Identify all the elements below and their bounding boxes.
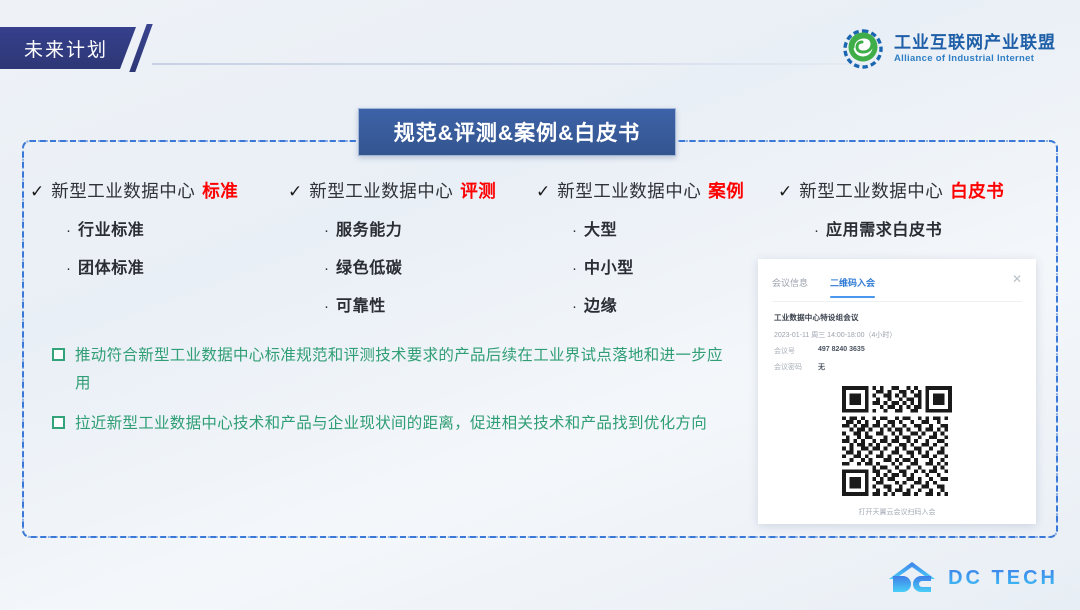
list-item: · 团体标准 bbox=[66, 254, 288, 278]
dc-monogram-icon bbox=[885, 560, 939, 596]
check-icon: ✓ bbox=[288, 183, 302, 200]
meeting-qr-card: 会议信息 二维码入会 ✕ 工业数据中心特设组会议 2023-01-11 周三 1… bbox=[758, 259, 1036, 524]
bullet-dot-icon: · bbox=[66, 261, 71, 276]
meeting-title: 工业数据中心特设组会议 bbox=[774, 312, 1020, 323]
list-item: · 大型 bbox=[572, 216, 778, 240]
category-column-evaluation: ✓ 新型工业数据中心 评测 · 服务能力 · 绿色低碳 · 可靠性 bbox=[288, 178, 536, 330]
column-sub-list: · 服务能力 · 绿色低碳 · 可靠性 bbox=[288, 216, 536, 316]
note-text: 拉近新型工业数据中心技术和产品与企业现状间的距离，促进相关技术和产品找到优化方向 bbox=[75, 410, 707, 438]
meeting-id-label: 会议号 bbox=[774, 346, 818, 356]
check-icon: ✓ bbox=[536, 183, 550, 200]
list-item: · 应用需求白皮书 bbox=[814, 216, 1050, 240]
bullet-dot-icon: · bbox=[572, 299, 577, 314]
column-heading-accent: 白皮书 bbox=[950, 178, 1004, 203]
meeting-id-row: 会议号 497 8240 3635 bbox=[774, 346, 1020, 356]
card-tab-bar: 会议信息 二维码入会 ✕ bbox=[758, 259, 1036, 301]
column-heading-accent: 评测 bbox=[460, 178, 496, 203]
list-item-label: 大型 bbox=[584, 216, 617, 240]
column-heading: ✓ 新型工业数据中心 案例 bbox=[536, 178, 778, 203]
tab-meeting-info[interactable]: 会议信息 bbox=[772, 276, 808, 298]
bullet-dot-icon: · bbox=[572, 223, 577, 238]
alliance-logo-text: 工业互联网产业联盟 Alliance of Industrial Interne… bbox=[894, 34, 1056, 64]
note-text: 推动符合新型工业数据中心标准规范和评测技术要求的产品后续在工业界试点落地和进一步… bbox=[75, 342, 724, 398]
list-item: · 绿色低碳 bbox=[324, 254, 536, 278]
slide-title-banner: 未来计划 bbox=[0, 27, 136, 69]
section-title-text: 规范&评测&案例&白皮书 bbox=[394, 117, 641, 147]
column-heading-accent: 案例 bbox=[708, 178, 744, 203]
list-item-label: 可靠性 bbox=[336, 292, 386, 316]
column-heading-main: 新型工业数据中心 bbox=[309, 178, 453, 203]
category-column-standard: ✓ 新型工业数据中心 标准 · 行业标准 · 团体标准 bbox=[30, 178, 288, 330]
dc-tech-wordmark: DC TECH bbox=[948, 567, 1058, 590]
close-icon[interactable]: ✕ bbox=[1012, 273, 1022, 285]
column-sub-list: · 行业标准 · 团体标准 bbox=[30, 216, 288, 278]
bullet-dot-icon: · bbox=[66, 223, 71, 238]
meeting-time: 2023-01-11 周三 14:00-18:00（4小时） bbox=[774, 330, 1020, 340]
bullet-dot-icon: · bbox=[324, 261, 329, 276]
list-item: · 边缘 bbox=[572, 292, 778, 316]
square-bullet-icon bbox=[52, 416, 65, 429]
column-sub-list: · 大型 · 中小型 · 边缘 bbox=[536, 216, 778, 316]
list-item: · 服务能力 bbox=[324, 216, 536, 240]
category-column-case: ✓ 新型工业数据中心 案例 · 大型 · 中小型 · 边缘 bbox=[536, 178, 778, 330]
check-icon: ✓ bbox=[778, 183, 792, 200]
qr-caption: 打开天翼云会议扫码入会 bbox=[859, 507, 936, 517]
column-heading-main: 新型工业数据中心 bbox=[799, 178, 943, 203]
list-item-label: 服务能力 bbox=[336, 216, 402, 240]
square-bullet-icon bbox=[52, 348, 65, 361]
bullet-dot-icon: · bbox=[814, 223, 819, 238]
qr-code-icon[interactable] bbox=[842, 386, 952, 496]
check-icon: ✓ bbox=[30, 183, 44, 200]
qr-area: 打开天翼云会议扫码入会 bbox=[774, 386, 1020, 517]
bullet-dot-icon: · bbox=[324, 299, 329, 314]
bullet-dot-icon: · bbox=[324, 223, 329, 238]
bullet-dot-icon: · bbox=[572, 261, 577, 276]
column-heading: ✓ 新型工业数据中心 白皮书 bbox=[778, 178, 1050, 203]
column-heading-accent: 标准 bbox=[202, 178, 238, 203]
meeting-password-label: 会议密码 bbox=[774, 362, 818, 372]
column-heading: ✓ 新型工业数据中心 评测 bbox=[288, 178, 536, 203]
note-row: 推动符合新型工业数据中心标准规范和评测技术要求的产品后续在工业界试点落地和进一步… bbox=[52, 342, 724, 398]
list-item: · 行业标准 bbox=[66, 216, 288, 240]
list-item-label: 应用需求白皮书 bbox=[826, 216, 942, 240]
alliance-name-cn: 工业互联网产业联盟 bbox=[894, 34, 1056, 52]
column-heading-main: 新型工业数据中心 bbox=[557, 178, 701, 203]
header-divider-line bbox=[152, 63, 862, 65]
meeting-details: 工业数据中心特设组会议 2023-01-11 周三 14:00-18:00（4小… bbox=[758, 302, 1036, 517]
meeting-password-row: 会议密码 无 bbox=[774, 362, 1020, 372]
list-item: · 可靠性 bbox=[324, 292, 536, 316]
section-title-chip: 规范&评测&案例&白皮书 bbox=[358, 108, 676, 156]
page-header: 未来计划 工业互联网产业联盟 Alliance of Industrial In… bbox=[0, 0, 1080, 92]
list-item-label: 团体标准 bbox=[78, 254, 144, 278]
meeting-id-value: 497 8240 3635 bbox=[818, 346, 865, 356]
column-sub-list: · 应用需求白皮书 bbox=[778, 216, 1050, 240]
list-item-label: 中小型 bbox=[584, 254, 634, 278]
dc-tech-logo: DC TECH bbox=[885, 560, 1058, 596]
slide-title-text: 未来计划 bbox=[24, 35, 108, 62]
column-heading: ✓ 新型工业数据中心 标准 bbox=[30, 178, 288, 203]
list-item-label: 行业标准 bbox=[78, 216, 144, 240]
notes-block: 推动符合新型工业数据中心标准规范和评测技术要求的产品后续在工业界试点落地和进一步… bbox=[52, 342, 724, 450]
alliance-logo: 工业互联网产业联盟 Alliance of Industrial Interne… bbox=[841, 27, 1056, 71]
list-item-label: 边缘 bbox=[584, 292, 617, 316]
gear-logo-icon bbox=[841, 27, 885, 71]
list-item-label: 绿色低碳 bbox=[336, 254, 402, 278]
column-heading-main: 新型工业数据中心 bbox=[51, 178, 195, 203]
note-row: 拉近新型工业数据中心技术和产品与企业现状间的距离，促进相关技术和产品找到优化方向 bbox=[52, 410, 724, 438]
tab-qr-join[interactable]: 二维码入会 bbox=[830, 276, 875, 298]
list-item: · 中小型 bbox=[572, 254, 778, 278]
alliance-name-en: Alliance of Industrial Internet bbox=[894, 54, 1056, 64]
meeting-password-value: 无 bbox=[818, 362, 825, 372]
